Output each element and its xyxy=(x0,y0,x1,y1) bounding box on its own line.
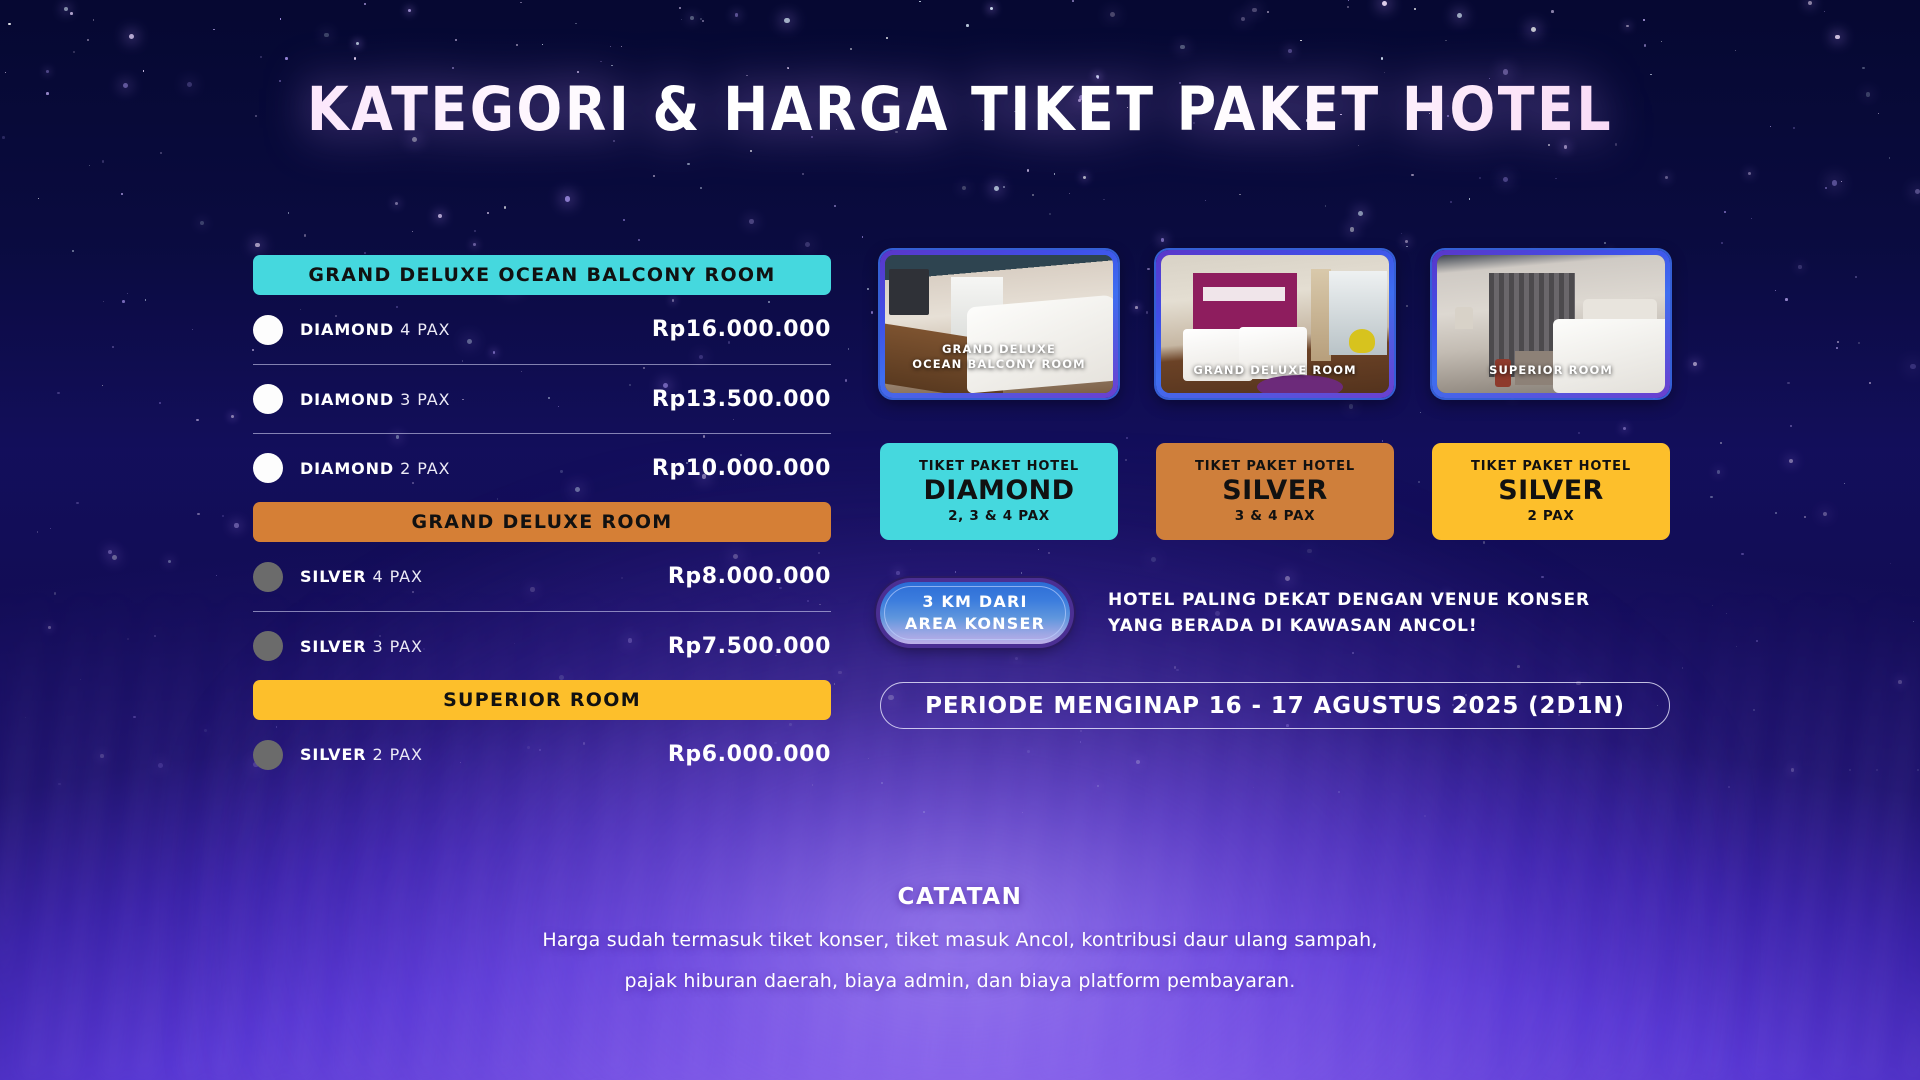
row-pax: 2 PAX xyxy=(400,459,450,478)
price-table: GRAND DELUXE OCEAN BALCONY ROOM DIAMOND … xyxy=(253,255,831,789)
right-column: GRAND DELUXE OCEAN BALCONY ROOM GRAND DE… xyxy=(880,250,1670,729)
bullet-icon xyxy=(253,315,283,345)
room-photo-image: SUPERIOR ROOM xyxy=(1437,255,1665,393)
package-card-row: TIKET PAKET HOTEL DIAMOND 2, 3 & 4 PAX T… xyxy=(880,443,1670,540)
room-photo-card-grand-deluxe: GRAND DELUXE ROOM xyxy=(1156,250,1394,398)
row-price: Rp16.000.000 xyxy=(652,317,831,342)
caption-line-1: SUPERIOR ROOM xyxy=(1437,363,1665,379)
bullet-icon xyxy=(253,562,283,592)
table-row: DIAMOND 4 PAX Rp16.000.000 xyxy=(253,295,831,364)
table-row: DIAMOND 2 PAX Rp10.000.000 xyxy=(253,433,831,502)
row-label: DIAMOND 3 PAX xyxy=(300,390,450,409)
row-label: DIAMOND 2 PAX xyxy=(300,459,450,478)
package-card-diamond: TIKET PAKET HOTEL DIAMOND 2, 3 & 4 PAX xyxy=(880,443,1118,540)
package-pax: 3 & 4 PAX xyxy=(1235,508,1315,524)
bullet-icon xyxy=(253,384,283,414)
room-photo-caption: SUPERIOR ROOM xyxy=(1437,363,1665,379)
bullet-icon xyxy=(253,631,283,661)
row-tier: DIAMOND xyxy=(300,320,394,339)
notes-title: CATATAN xyxy=(0,884,1920,910)
row-tier: SILVER xyxy=(300,567,367,586)
row-price: Rp10.000.000 xyxy=(652,456,831,481)
caption-line-1: GRAND DELUXE xyxy=(885,342,1113,358)
package-card-silver-2pax: TIKET PAKET HOTEL SILVER 2 PAX xyxy=(1432,443,1670,540)
distance-badge-line-2: AREA KONSER xyxy=(905,613,1045,635)
package-card-silver-34pax: TIKET PAKET HOTEL SILVER 3 & 4 PAX xyxy=(1156,443,1394,540)
table-row: DIAMOND 3 PAX Rp13.500.000 xyxy=(253,364,831,433)
row-pax: 3 PAX xyxy=(373,637,423,656)
bullet-icon xyxy=(253,740,283,770)
package-name: SILVER xyxy=(1222,475,1328,507)
distance-description: HOTEL PALING DEKAT DENGAN VENUE KONSER Y… xyxy=(1108,587,1590,640)
package-name: DIAMOND xyxy=(924,475,1075,507)
category-bar-superior-room: SUPERIOR ROOM xyxy=(253,680,831,720)
room-photo-caption: GRAND DELUXE OCEAN BALCONY ROOM xyxy=(885,342,1113,373)
row-pax: 4 PAX xyxy=(400,320,450,339)
distance-text-line-2: YANG BERADA DI KAWASAN ANCOL! xyxy=(1108,613,1590,639)
category-bar-grand-deluxe-ocean-balcony-room: GRAND DELUXE OCEAN BALCONY ROOM xyxy=(253,255,831,295)
room-photo-card-grand-deluxe-ocean-balcony: GRAND DELUXE OCEAN BALCONY ROOM xyxy=(880,250,1118,398)
notes-line-2: pajak hiburan daerah, biaya admin, dan b… xyxy=(0,970,1920,992)
row-pax: 3 PAX xyxy=(400,390,450,409)
distance-badge: 3 KM DARI AREA KONSER xyxy=(880,582,1070,644)
table-row: SILVER 4 PAX Rp8.000.000 xyxy=(253,542,831,611)
row-label: SILVER 4 PAX xyxy=(300,567,423,586)
notes-section: CATATAN Harga sudah termasuk tiket konse… xyxy=(0,884,1920,992)
room-photo-image: GRAND DELUXE ROOM xyxy=(1161,255,1389,393)
category-bar-grand-deluxe-room: GRAND DELUXE ROOM xyxy=(253,502,831,542)
row-label: SILVER 2 PAX xyxy=(300,745,423,764)
period-banner: PERIODE MENGINAP 16 - 17 AGUSTUS 2025 (2… xyxy=(880,682,1670,729)
room-photo-caption: GRAND DELUXE ROOM xyxy=(1161,363,1389,379)
package-eyebrow: TIKET PAKET HOTEL xyxy=(1195,459,1355,474)
package-pax: 2, 3 & 4 PAX xyxy=(948,508,1050,524)
row-label: DIAMOND 4 PAX xyxy=(300,320,450,339)
row-pax: 4 PAX xyxy=(373,567,423,586)
row-pax: 2 PAX xyxy=(373,745,423,764)
table-row: SILVER 3 PAX Rp7.500.000 xyxy=(253,611,831,680)
room-photo-image: GRAND DELUXE OCEAN BALCONY ROOM xyxy=(885,255,1113,393)
package-pax: 2 PAX xyxy=(1527,508,1574,524)
caption-line-1: GRAND DELUXE ROOM xyxy=(1161,363,1389,379)
package-eyebrow: TIKET PAKET HOTEL xyxy=(1471,459,1631,474)
package-eyebrow: TIKET PAKET HOTEL xyxy=(919,459,1079,474)
table-row: SILVER 2 PAX Rp6.000.000 xyxy=(253,720,831,789)
row-tier: DIAMOND xyxy=(300,459,394,478)
distance-badge-line-1: 3 KM DARI xyxy=(922,591,1027,613)
row-tier: SILVER xyxy=(300,637,367,656)
row-tier: DIAMOND xyxy=(300,390,394,409)
distance-text-line-1: HOTEL PALING DEKAT DENGAN VENUE KONSER xyxy=(1108,587,1590,613)
notes-line-1: Harga sudah termasuk tiket konser, tiket… xyxy=(0,929,1920,951)
distance-row: 3 KM DARI AREA KONSER HOTEL PALING DEKAT… xyxy=(880,582,1670,644)
row-price: Rp7.500.000 xyxy=(668,634,831,659)
room-photo-row: GRAND DELUXE OCEAN BALCONY ROOM GRAND DE… xyxy=(880,250,1670,398)
package-name: SILVER xyxy=(1498,475,1604,507)
bullet-icon xyxy=(253,453,283,483)
room-photo-card-superior: SUPERIOR ROOM xyxy=(1432,250,1670,398)
row-price: Rp13.500.000 xyxy=(652,387,831,412)
page-title: KATEGORI & HARGA TIKET PAKET HOTEL xyxy=(0,74,1920,145)
row-tier: SILVER xyxy=(300,745,367,764)
row-price: Rp6.000.000 xyxy=(668,742,831,767)
row-label: SILVER 3 PAX xyxy=(300,637,423,656)
row-price: Rp8.000.000 xyxy=(668,564,831,589)
caption-line-2: OCEAN BALCONY ROOM xyxy=(885,357,1113,373)
